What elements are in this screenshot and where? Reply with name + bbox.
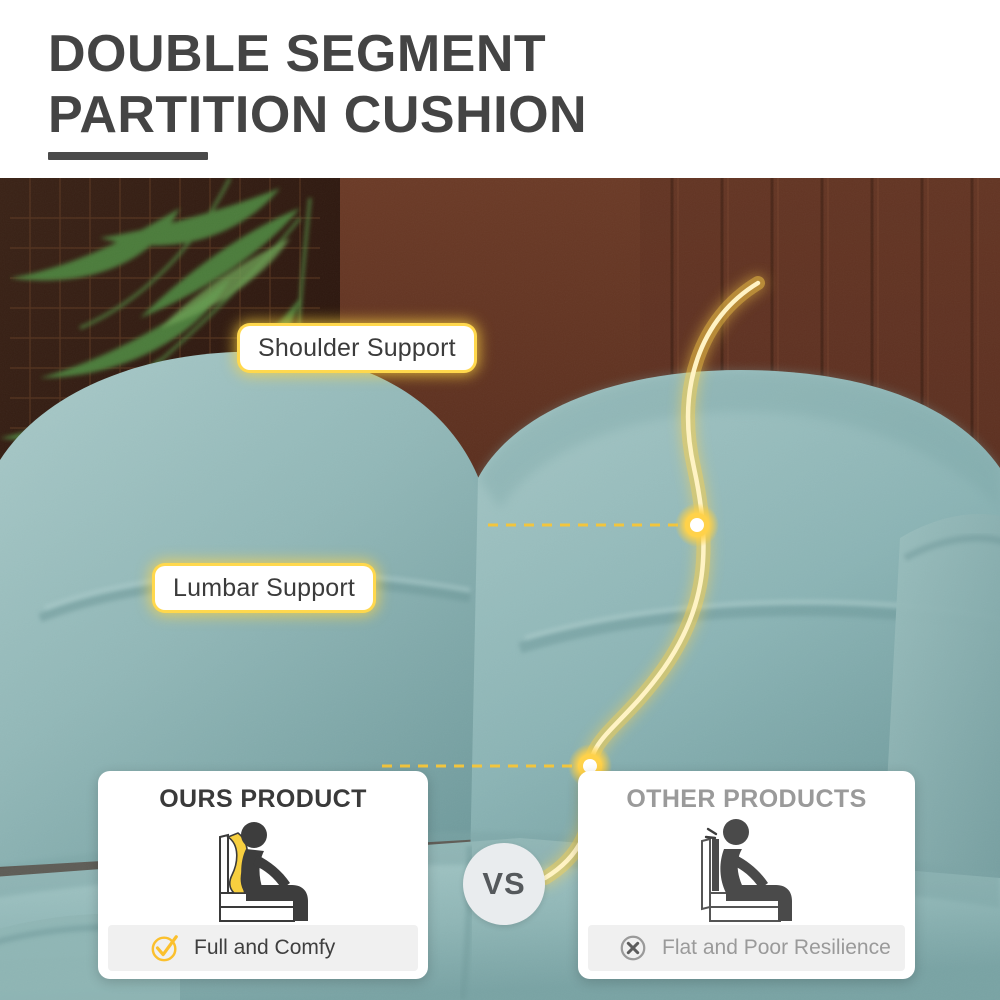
- callout-lumbar-label: Lumbar Support: [173, 574, 355, 603]
- card-ours-title: OURS PRODUCT: [98, 785, 428, 814]
- card-other-benefit-row: Flat and Poor Resilience: [588, 925, 905, 971]
- page-title-line1: DOUBLE SEGMENT: [48, 25, 546, 83]
- callout-lumbar-support[interactable]: Lumbar Support: [155, 566, 373, 610]
- infographic-page: DOUBLE SEGMENT PARTITION CUSHION: [0, 0, 1000, 1000]
- card-other-benefit-text: Flat and Poor Resilience: [662, 936, 891, 960]
- marker-shoulder: [675, 503, 719, 547]
- card-ours-benefit-row: Full and Comfy: [108, 925, 418, 971]
- card-other-title: OTHER PRODUCTS: [578, 785, 915, 814]
- title-underline-rule: [48, 152, 208, 160]
- header-banner: DOUBLE SEGMENT PARTITION CUSHION: [0, 0, 1000, 178]
- card-ours-benefit-text: Full and Comfy: [194, 936, 335, 960]
- card-other-products[interactable]: OTHER PRODUCTS: [578, 771, 915, 979]
- bad-posture-icon: [672, 815, 822, 930]
- page-title: DOUBLE SEGMENT PARTITION CUSHION: [48, 24, 948, 147]
- card-ours-product[interactable]: OURS PRODUCT: [98, 771, 428, 979]
- x-circle-icon: [618, 933, 648, 963]
- check-circle-icon: [150, 933, 180, 963]
- callout-shoulder-label: Shoulder Support: [258, 334, 456, 363]
- callout-shoulder-support[interactable]: Shoulder Support: [240, 326, 474, 370]
- figure-bad-posture: [578, 815, 915, 930]
- figure-good-posture: [98, 815, 428, 930]
- good-posture-icon: [188, 815, 338, 930]
- page-title-line2: PARTITION CUSHION: [48, 85, 948, 146]
